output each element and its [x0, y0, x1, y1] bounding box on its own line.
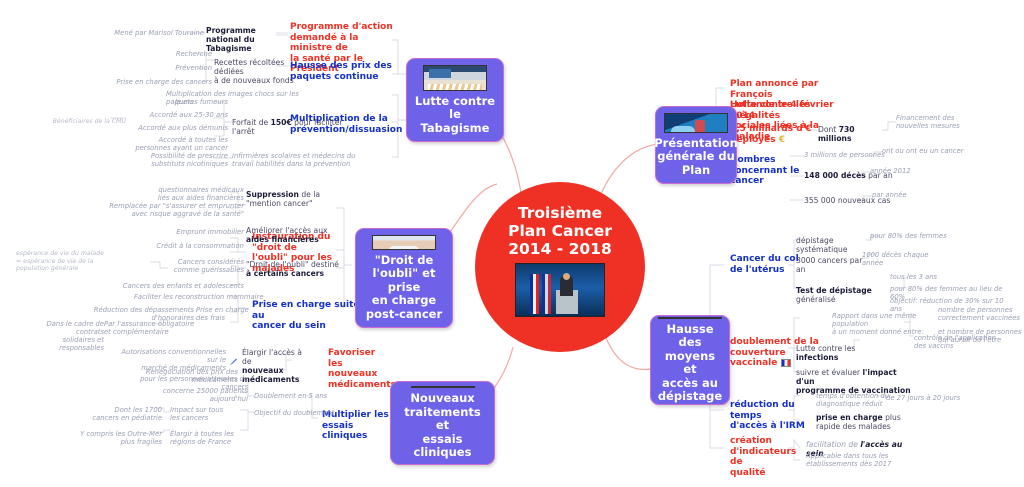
node-ont-eu-cancer[interactable]: ont ou ont eu un cancer: [882, 147, 986, 155]
node-esperance-vie[interactable]: espérance de vie du malade= espérance de…: [16, 250, 126, 273]
node-nombres-cancer[interactable]: Nombresconcernant lecancer: [730, 155, 800, 187]
node-accorde-toutes-personnes[interactable]: Accordé à toutes lespersonnes ayant un c…: [128, 136, 228, 152]
node-jeunes-fumeurs[interactable]: Jeunes fumeurs: [128, 98, 228, 106]
node-favoriser-nouveaux-traitements[interactable]: Favoriser lesnouveauxmédicaments: [328, 348, 392, 390]
node-27-a-20-jours[interactable]: de 27 jours à 20 jours: [886, 394, 976, 402]
node-substituts-nicotiniques[interactable]: Possibilité de prescriresubstituts nicot…: [128, 152, 228, 168]
node-creation-indicateurs-qualite[interactable]: créationd'indicateurs dequalité: [730, 436, 806, 478]
node-accorde-demunis[interactable]: Accordé aux plus démunis: [128, 124, 228, 132]
node-remplacee-par-sassurer[interactable]: Remplacée par "s'assurer et emprunterave…: [56, 202, 244, 218]
central-topic[interactable]: Troisième Plan Cancer 2014 - 2018: [475, 182, 645, 352]
node-test-depistage-generalise[interactable]: Test de dépistage généralisé: [796, 286, 890, 304]
node-elargir-acces-medicaments[interactable]: Élargir l'accès à denouveauxmédicaments: [242, 348, 312, 384]
mri-scanner-photo: [658, 317, 722, 319]
node-beneficiaires-cmu[interactable]: Bénéficiaires de la CMU: [22, 118, 126, 126]
node-applicable-etablissements-2017[interactable]: Applicable dans tous lesétablissements d…: [806, 452, 902, 468]
node-financement-nouvelles-mesures[interactable]: Financement desnouvelles mesures: [896, 114, 988, 130]
node-prise-en-charge-frais[interactable]: Prise en chargedes frais: [196, 306, 256, 322]
main-topic-droit-oubli[interactable]: "Droit del'oubli" et priseen chargepost-…: [355, 228, 453, 328]
main-topic-tabagisme[interactable]: Lutte contre leTabagisme: [406, 58, 504, 142]
node-suivre-evaluer-impact[interactable]: suivre et évaluer l'impact d'unprogramme…: [796, 368, 912, 395]
node-1000-deces-chaque-annee[interactable]: 1000 décès chaque année: [862, 251, 950, 267]
node-lutte-contre-infections[interactable]: Lutte contre les infections: [796, 344, 886, 362]
node-controle-application-vaccins[interactable]: contrôle de l'applicationdes vaccins: [914, 334, 1006, 350]
node-prise-en-charge-cancer-sein[interactable]: Prise en charge suite aucancer du sein: [252, 300, 360, 332]
node-infirmieres-scolaires[interactable]: Infirmières scolaires et médecins dutrav…: [232, 152, 360, 168]
central-title: Troisième Plan Cancer 2014 - 2018: [508, 204, 612, 258]
node-reconstruction-mammaire[interactable]: Faciliter les reconstruction mammaire: [134, 293, 290, 301]
node-droit-oubli-certains-cancers[interactable]: "Droit de l'oubli" destinéà certains can…: [246, 260, 342, 278]
main-topic-presentation[interactable]: Présentationgénérale duPlan: [655, 106, 737, 184]
node-outre-mer-fragiles[interactable]: Y compris les Outre-Merplus fragiles: [70, 430, 162, 446]
cigarettes-photo: [423, 65, 487, 91]
flag-icon: [781, 359, 791, 367]
node-objectif-doublement[interactable]: Objectif du doublement: [254, 409, 336, 417]
node-recherche[interactable]: Recherche: [124, 50, 212, 58]
node-emprunt-immobilier[interactable]: Emprunt immobilier: [136, 228, 244, 236]
main-topic-hausse-moyens[interactable]: Hausse desmoyens etaccès audépistage: [650, 315, 730, 405]
breast-exam-photo: [411, 386, 475, 388]
node-marisol-touraine[interactable]: Mené par Marisol Touraine: [112, 29, 204, 37]
node-par-annee[interactable]: par année: [872, 191, 932, 199]
mindmap-canvas: Troisième Plan Cancer 2014 - 2018 Lutte …: [0, 0, 1024, 487]
node-elargir-regions-france[interactable]: Élargir à toutes lesrégions de France: [170, 430, 244, 446]
euro-icon: €: [779, 135, 785, 145]
node-questionnaires-medicaux[interactable]: questionnaires médicauxliés aux aides fi…: [138, 186, 244, 202]
node-cancers-guerissables[interactable]: Cancers considéréscomme guérissables: [140, 258, 244, 274]
node-prise-en-charge-rapide[interactable]: prise en charge plusrapide des malades: [816, 413, 902, 431]
node-dont-730-millions[interactable]: Dont 730 millions: [818, 125, 890, 143]
node-credit-consommation[interactable]: Crédit à la consommation: [126, 242, 244, 250]
node-forfait-150[interactable]: Forfait de 150€ pour faciliter l'arrêt: [232, 118, 358, 136]
holding-hands-photo: [372, 235, 436, 250]
node-prise-en-charge-cancers[interactable]: Prise en charge des cancers: [110, 78, 212, 86]
node-tous-les-3-ans[interactable]: tous les 3 ans: [890, 273, 1008, 281]
node-programme-national[interactable]: Programme national duTabagisme: [206, 26, 288, 53]
node-ameliorer-acces-aides[interactable]: Améliorer l'accès auxaides financières: [246, 226, 338, 244]
node-1700-cancers-pediatrie[interactable]: Dont les 1700cancers en pédiatrie: [74, 406, 162, 422]
node-contrats-solidaires[interactable]: Dans le cadre de contratssolidaires et r…: [22, 320, 104, 352]
president-podium-photo: [515, 263, 605, 317]
node-assurance-obligatoire[interactable]: Par l'assurance obligatoireet complément…: [104, 320, 204, 336]
main-topic-nouveaux-traitements[interactable]: Nouveauxtraitements etessais cliniques: [390, 381, 495, 465]
node-recettes-recoltees[interactable]: Recettes récoltées dédiéesà de nouveaux …: [214, 58, 310, 85]
node-nombre-correctement-vaccinees[interactable]: nombre de personnescorrectement vaccinée…: [938, 306, 1024, 322]
node-80-pourcent-femmes[interactable]: pour 80% des femmes: [870, 232, 952, 240]
node-25000-patients[interactable]: concerne 25000 patients aujourd'hui: [130, 387, 248, 403]
node-annee-2012[interactable]: année 2012: [870, 167, 930, 175]
node-prevention[interactable]: Prévention: [124, 64, 212, 72]
node-rapport-meme-population[interactable]: Rapport dans une même populationà un mom…: [832, 312, 940, 336]
node-doublement-5-ans[interactable]: Doublement en 5 ans: [254, 392, 332, 400]
node-suppression-mention-cancer[interactable]: Suppression de la"mention cancer": [246, 190, 338, 208]
node-impact-tous-cancers[interactable]: Impact sur tousles cancers: [170, 406, 240, 422]
node-reduction-temps-irm[interactable]: réduction du tempsd'accès à l'IRM: [730, 400, 820, 432]
pencil-icon: [230, 358, 237, 365]
node-cancer-col-uterus[interactable]: Cancer du colde l'utérus: [730, 254, 802, 275]
node-cancers-enfants-adolescents[interactable]: Cancers des enfants et adolescents: [108, 282, 244, 290]
lab-sample-photo: [664, 113, 728, 133]
node-accorde-25-30[interactable]: Accordé aux 25-30 ans: [128, 111, 228, 119]
